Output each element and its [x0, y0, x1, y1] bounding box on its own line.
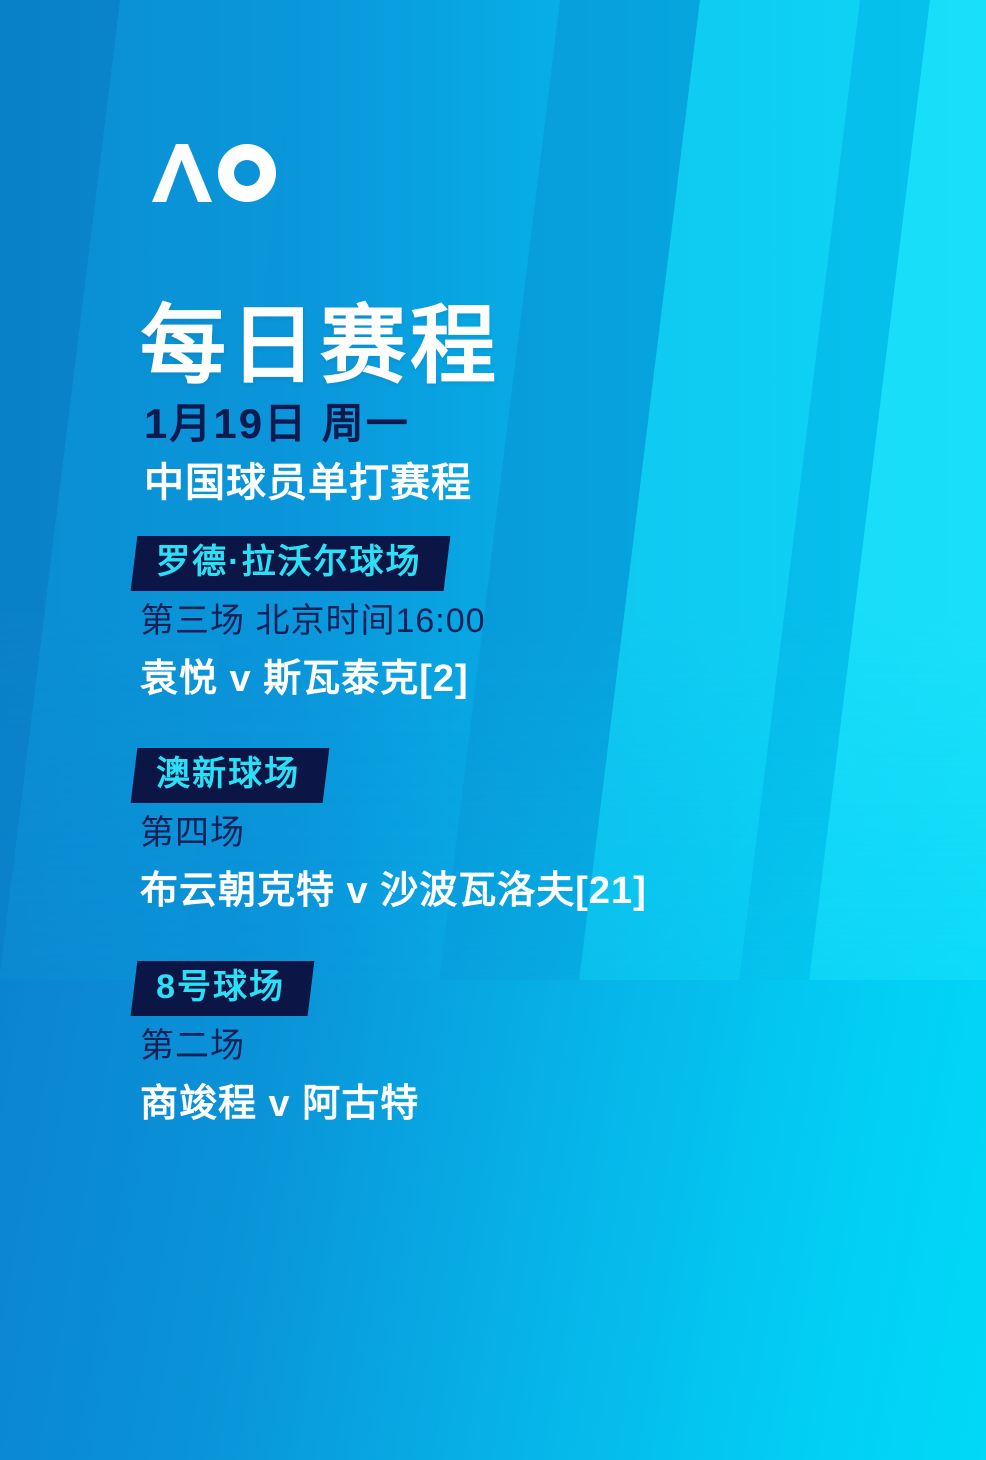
venue-name: 8号球场	[156, 967, 285, 1008]
venue-badge[interactable]: 罗德·拉沃尔球场	[131, 536, 451, 591]
venue-name: 澳新球场	[156, 754, 300, 795]
ao-logo	[148, 138, 278, 206]
match-order: 第四场	[140, 811, 986, 855]
venue-name: 罗德·拉沃尔球场	[156, 542, 421, 583]
match-item: 8号球场 第二场 商竣程 v 阿古特	[0, 961, 986, 1129]
headline-block: 每日赛程 1月19日 周一 中国球员单打赛程	[140, 302, 920, 508]
page-subtitle: 中国球员单打赛程	[144, 458, 920, 508]
venue-badge[interactable]: 澳新球场	[131, 748, 330, 803]
poster-root: 每日赛程 1月19日 周一 中国球员单打赛程 罗德·拉沃尔球场 第三场 北京时间…	[0, 0, 986, 1460]
page-title: 每日赛程	[140, 302, 920, 391]
schedule-date: 1月19日 周一	[144, 397, 920, 452]
match-list: 罗德·拉沃尔球场 第三场 北京时间16:00 袁悦 v 斯瓦泰克[2] 澳新球场…	[0, 536, 986, 1173]
match-order: 第二场	[140, 1024, 986, 1068]
match-players: 布云朝克特 v 沙波瓦洛夫[21]	[140, 867, 986, 916]
match-item: 澳新球场 第四场 布云朝克特 v 沙波瓦洛夫[21]	[0, 748, 986, 916]
match-item: 罗德·拉沃尔球场 第三场 北京时间16:00 袁悦 v 斯瓦泰克[2]	[0, 536, 986, 704]
venue-badge[interactable]: 8号球场	[131, 961, 315, 1016]
match-players: 商竣程 v 阿古特	[140, 1080, 986, 1129]
match-players: 袁悦 v 斯瓦泰克[2]	[140, 655, 986, 704]
ao-logo-icon	[148, 138, 278, 206]
match-order: 第三场 北京时间16:00	[140, 599, 986, 643]
